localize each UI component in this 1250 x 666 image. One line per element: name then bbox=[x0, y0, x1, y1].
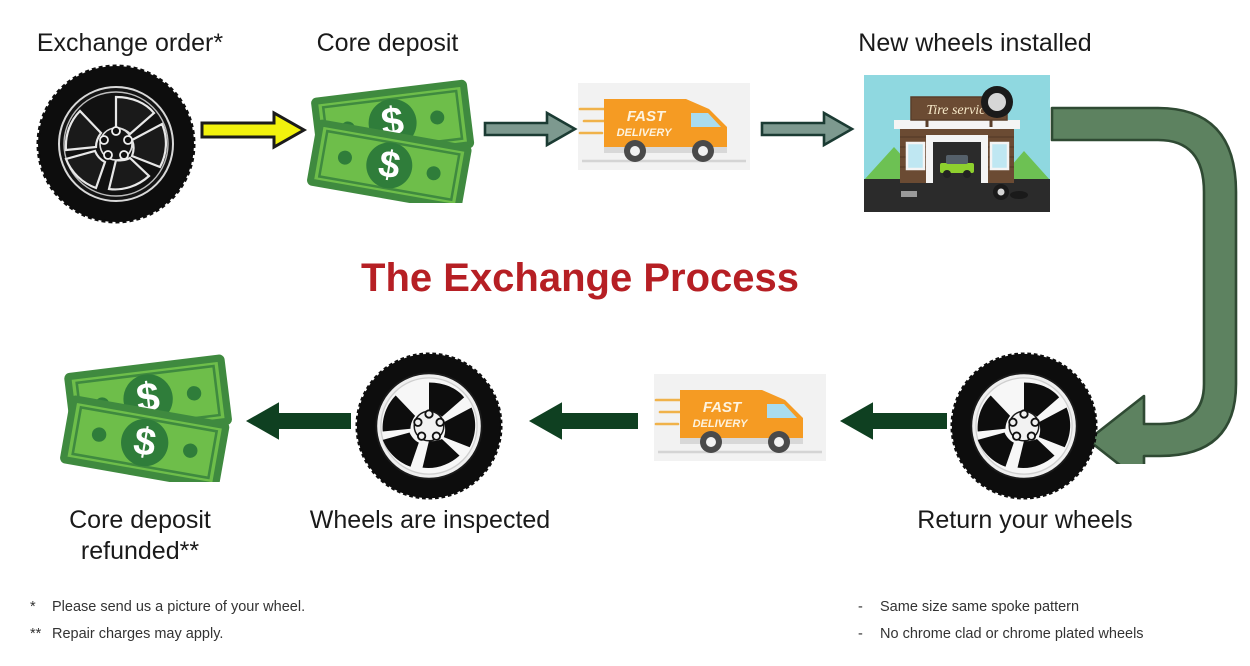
label-core-deposit-refunded-line1: Core deposit bbox=[69, 506, 211, 534]
tire-service-shop-icon: Tire service bbox=[864, 75, 1050, 212]
footnote-marker: ** bbox=[30, 621, 52, 648]
label-core-deposit-refunded: Core deposit refunded** bbox=[28, 505, 252, 568]
footnote-text: Repair charges may apply. bbox=[52, 626, 223, 642]
page-title: The Exchange Process bbox=[0, 256, 1160, 301]
footnote-marker: - bbox=[858, 594, 880, 621]
footnote-marker: * bbox=[30, 594, 52, 621]
arrow-order-to-deposit bbox=[200, 110, 308, 155]
footnote-text: Same size same spoke pattern bbox=[880, 599, 1079, 615]
arrow-deposit-to-truck bbox=[483, 108, 578, 155]
fast-delivery-truck-return-icon: FAST DELIVERY bbox=[654, 374, 826, 461]
cash-money-icon: $ $ bbox=[305, 78, 480, 208]
arrow-truck-to-inspected bbox=[527, 400, 639, 447]
arrow-return-to-truck bbox=[838, 400, 948, 447]
footnote-left-item: *Please send us a picture of your wheel. bbox=[30, 594, 450, 621]
label-new-wheels-installed: New wheels installed bbox=[790, 28, 1160, 59]
footnote-text: No chrome clad or chrome plated wheels bbox=[880, 626, 1144, 642]
footnotes-right: -Same size same spoke pattern -No chrome… bbox=[858, 594, 1250, 648]
alloy-wheel-silver-inspected-icon bbox=[355, 352, 503, 500]
cash-money-refund-icon: $ $ bbox=[58, 352, 238, 487]
label-wheels-are-inspected: Wheels are inspected bbox=[280, 505, 580, 536]
fast-delivery-truck-icon: FAST DELIVERY bbox=[578, 83, 750, 170]
footnote-left-item: **Repair charges may apply. bbox=[30, 621, 450, 648]
footnote-marker: - bbox=[858, 621, 880, 648]
arrow-inspected-to-refund bbox=[244, 400, 352, 447]
exchange-process-diagram: Exchange order* Core deposit New wheels … bbox=[0, 0, 1250, 666]
footnote-text: Please send us a picture of your wheel. bbox=[52, 599, 305, 615]
footnote-right-item: -Same size same spoke pattern bbox=[858, 594, 1250, 621]
alloy-wheel-black-icon bbox=[36, 64, 196, 224]
truck-text-fast: FAST bbox=[627, 108, 667, 125]
label-exchange-order: Exchange order* bbox=[0, 28, 260, 59]
footnotes-left: *Please send us a picture of your wheel.… bbox=[30, 594, 450, 648]
label-core-deposit: Core deposit bbox=[280, 28, 495, 59]
truck-text-fast: FAST bbox=[703, 399, 743, 416]
truck-text-delivery: DELIVERY bbox=[617, 127, 673, 139]
label-return-your-wheels: Return your wheels bbox=[880, 505, 1170, 536]
label-core-deposit-refunded-line2: refunded** bbox=[81, 537, 199, 565]
arrow-truck-to-shop bbox=[760, 108, 855, 155]
footnote-right-item: -No chrome clad or chrome plated wheels bbox=[858, 621, 1250, 648]
alloy-wheel-silver-return-icon bbox=[950, 352, 1098, 500]
truck-text-delivery: DELIVERY bbox=[693, 418, 749, 430]
